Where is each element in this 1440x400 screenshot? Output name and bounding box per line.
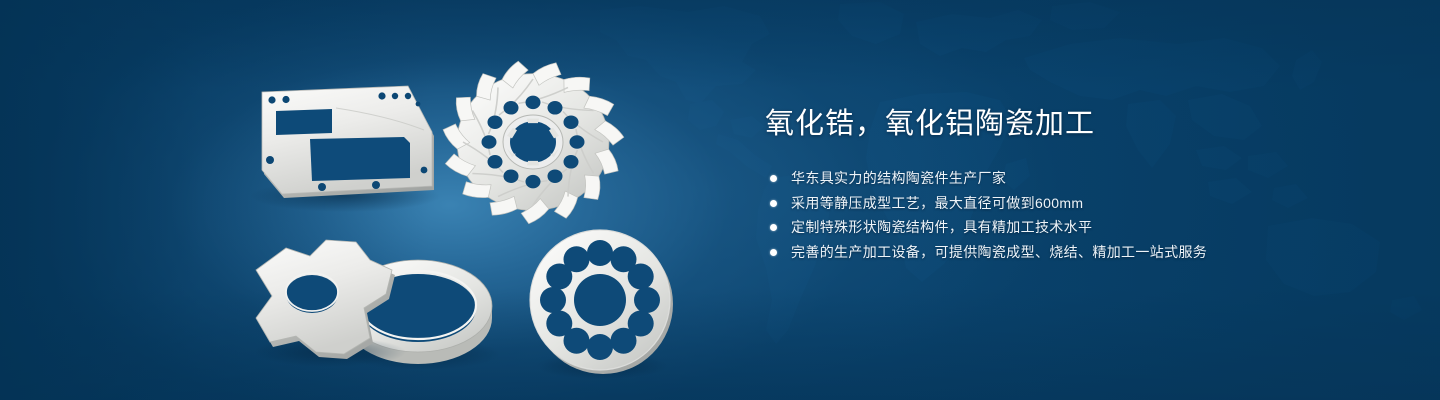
bullet-dot-icon — [770, 224, 777, 231]
list-item: 华东具实力的结构陶瓷件生产厂家 — [765, 166, 1405, 191]
hero-banner: 氧化锆，氧化铝陶瓷加工 华东具实力的结构陶瓷件生产厂家 采用等静压成型工艺，最大… — [0, 0, 1440, 400]
feature-list: 华东具实力的结构陶瓷件生产厂家 采用等静压成型工艺，最大直径可做到600mm 定… — [765, 166, 1405, 264]
list-item: 定制特殊形状陶瓷结构件，具有精加工技术水平 — [765, 215, 1405, 240]
list-item: 完善的生产加工设备，可提供陶瓷成型、烧结、精加工一站式服务 — [765, 240, 1405, 265]
product-photo-cluster — [0, 0, 720, 400]
feature-text: 华东具实力的结构陶瓷件生产厂家 — [791, 170, 1006, 186]
feature-text: 完善的生产加工设备，可提供陶瓷成型、烧结、精加工一站式服务 — [791, 244, 1207, 260]
ceramic-plate-photo — [250, 86, 440, 212]
feature-text: 定制特殊形状陶瓷结构件，具有精加工技术水平 — [791, 219, 1092, 235]
list-item: 采用等静压成型工艺，最大直径可做到600mm — [765, 191, 1405, 216]
bullet-dot-icon — [770, 249, 777, 256]
bullet-dot-icon — [770, 200, 777, 207]
ceramic-impeller-photo — [443, 59, 626, 224]
feature-text: 采用等静压成型工艺，最大直径可做到600mm — [791, 195, 1083, 211]
banner-copy: 氧化锆，氧化铝陶瓷加工 华东具实力的结构陶瓷件生产厂家 采用等静压成型工艺，最大… — [765, 104, 1405, 264]
ceramic-perforated-disc-photo — [530, 230, 673, 379]
page-title: 氧化锆，氧化铝陶瓷加工 — [765, 104, 1405, 144]
bullet-dot-icon — [770, 175, 777, 182]
